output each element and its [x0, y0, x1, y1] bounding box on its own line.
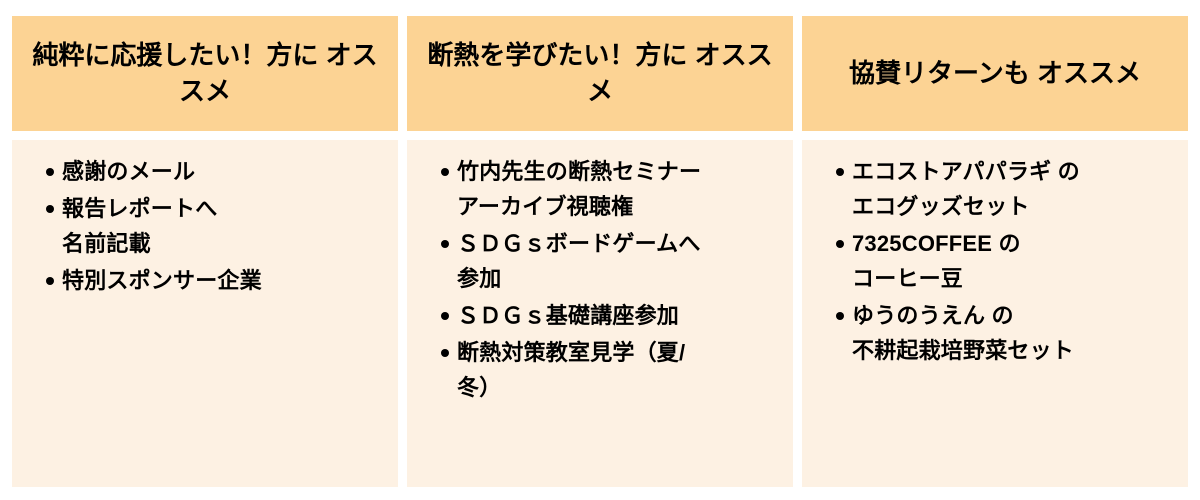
list-item: 特別スポンサー企業 — [24, 263, 386, 298]
list-item-line: 冬） — [457, 370, 781, 405]
list-item-line: 竹内先生の断熱セミナー — [457, 154, 781, 189]
list-item-line: 特別スポンサー企業 — [62, 263, 386, 298]
list-item: 断熱対策教室見学（夏/ 冬） — [419, 335, 781, 405]
column-header-sponsor-returns: 協賛リターンも オススメ — [802, 16, 1188, 131]
column-header-line-2: オススメ — [1037, 58, 1141, 88]
list-item-line: 不耕起栽培野菜セット — [852, 333, 1176, 368]
list-item-line: 7325COFFEE の — [852, 226, 1176, 261]
list-item-line: エコストアパパラギ の — [852, 154, 1176, 189]
list-item-line: ＳＤＧｓ基礎講座参加 — [457, 298, 781, 333]
column-header-line-1: 協賛リターンも — [849, 58, 1030, 88]
column-header-learn-insulation: 断熱を学びたい！方に オススメ — [407, 16, 793, 131]
list-item-line: エコグッズセット — [852, 189, 1176, 224]
list-item: ゆうのうえん の 不耕起栽培野菜セット — [814, 298, 1176, 368]
column-sponsor-returns: 協賛リターンも オススメ エコストアパパラギ の エコグッズセット 7325CO… — [802, 16, 1188, 487]
list-item: ＳＤＧｓボードゲームへ 参加 — [419, 226, 781, 296]
list-item-line: アーカイブ視聴権 — [457, 189, 781, 224]
list-item-line: 感謝のメール — [62, 154, 386, 189]
column-header-line-1: 断熱を学びたい！方に — [427, 40, 687, 70]
list-item-line: ゆうのうえん の — [852, 298, 1176, 333]
benefit-list-learn-insulation: 竹内先生の断熱セミナー アーカイブ視聴権 ＳＤＧｓボードゲームへ 参加 ＳＤＧｓ… — [419, 154, 781, 405]
list-item: ＳＤＧｓ基礎講座参加 — [419, 298, 781, 333]
list-item-line: 参加 — [457, 261, 781, 296]
list-item-line: ＳＤＧｓボードゲームへ — [457, 226, 781, 261]
benefit-list-sponsor-returns: エコストアパパラギ の エコグッズセット 7325COFFEE の コーヒー豆 … — [814, 154, 1176, 368]
list-item: 感謝のメール — [24, 154, 386, 189]
list-item-line: 報告レポートへ — [62, 191, 386, 226]
list-item-line: 名前記載 — [62, 226, 386, 261]
list-item: 7325COFFEE の コーヒー豆 — [814, 226, 1176, 296]
column-body-learn-insulation: 竹内先生の断熱セミナー アーカイブ視聴権 ＳＤＧｓボードゲームへ 参加 ＳＤＧｓ… — [407, 140, 793, 487]
column-pure-support: 純粋に応援したい！方に オススメ 感謝のメール 報告レポートへ 名前記載 特別ス… — [12, 16, 398, 487]
list-item-line: 断熱対策教室見学（夏/ — [457, 335, 781, 370]
column-body-sponsor-returns: エコストアパパラギ の エコグッズセット 7325COFFEE の コーヒー豆 … — [802, 140, 1188, 487]
column-learn-insulation: 断熱を学びたい！方に オススメ 竹内先生の断熱セミナー アーカイブ視聴権 ＳＤＧ… — [407, 16, 793, 487]
column-header-line-1: 純粋に応援したい！方に — [32, 40, 318, 70]
list-item-line: コーヒー豆 — [852, 261, 1176, 296]
column-body-pure-support: 感謝のメール 報告レポートへ 名前記載 特別スポンサー企業 — [12, 140, 398, 487]
list-item: 報告レポートへ 名前記載 — [24, 191, 386, 261]
column-header-pure-support: 純粋に応援したい！方に オススメ — [12, 16, 398, 131]
list-item: 竹内先生の断熱セミナー アーカイブ視聴権 — [419, 154, 781, 224]
support-tier-comparison-board: 純粋に応援したい！方に オススメ 感謝のメール 報告レポートへ 名前記載 特別ス… — [12, 16, 1188, 487]
benefit-list-pure-support: 感謝のメール 報告レポートへ 名前記載 特別スポンサー企業 — [24, 154, 386, 298]
list-item: エコストアパパラギ の エコグッズセット — [814, 154, 1176, 224]
